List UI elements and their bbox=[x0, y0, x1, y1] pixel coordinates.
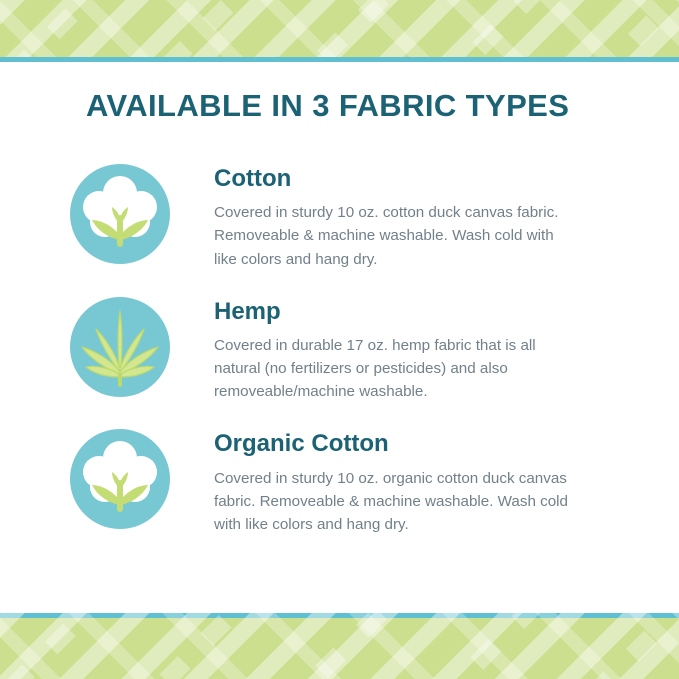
diagonal-dash-pattern bbox=[0, 0, 679, 62]
list-item: Cotton Covered in sturdy 10 oz. cotton d… bbox=[0, 160, 679, 271]
page-title: AVAILABLE IN 3 FABRIC TYPES bbox=[0, 88, 679, 124]
fabric-name: Organic Cotton bbox=[214, 431, 639, 457]
fabric-name: Hemp bbox=[214, 299, 639, 325]
fabric-description: Covered in sturdy 10 oz. organic cotton … bbox=[214, 467, 574, 536]
main-content: AVAILABLE IN 3 FABRIC TYPES bbox=[0, 62, 679, 613]
cotton-boll-icon bbox=[68, 427, 172, 531]
fabric-description: Covered in sturdy 10 oz. cotton duck can… bbox=[214, 201, 574, 270]
infographic-page: AVAILABLE IN 3 FABRIC TYPES bbox=[0, 0, 679, 679]
fabric-description: Covered in durable 17 oz. hemp fabric th… bbox=[214, 334, 574, 403]
cotton-boll-icon bbox=[68, 162, 172, 266]
list-item: Organic Cotton Covered in sturdy 10 oz. … bbox=[0, 425, 679, 536]
bottom-decorative-band bbox=[0, 613, 679, 679]
diagonal-dash-pattern bbox=[0, 613, 679, 679]
fabric-name: Cotton bbox=[214, 166, 639, 192]
fabric-text: Hemp Covered in durable 17 oz. hemp fabr… bbox=[172, 293, 639, 404]
fabric-text: Cotton Covered in sturdy 10 oz. cotton d… bbox=[172, 160, 639, 271]
list-item: Hemp Covered in durable 17 oz. hemp fabr… bbox=[0, 293, 679, 404]
fabric-list: Cotton Covered in sturdy 10 oz. cotton d… bbox=[0, 160, 679, 536]
top-decorative-band bbox=[0, 0, 679, 62]
fabric-text: Organic Cotton Covered in sturdy 10 oz. … bbox=[172, 425, 639, 536]
hemp-leaf-icon bbox=[68, 295, 172, 399]
